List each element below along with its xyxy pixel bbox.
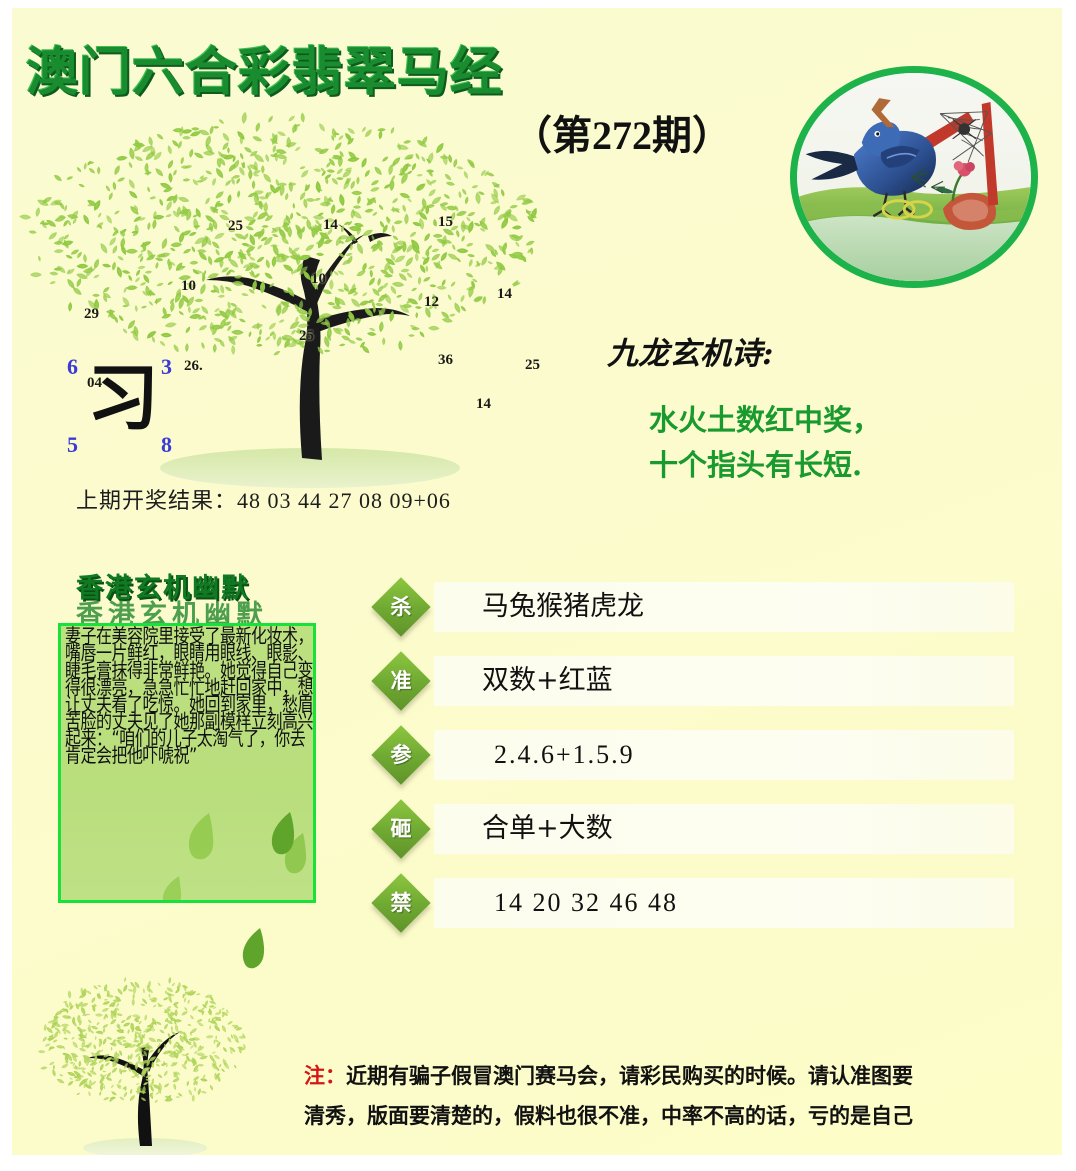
note-line-1-text: 近期有骗子假冒澳门赛马会，请彩民购买的时候。请认准图要 <box>346 1064 913 1088</box>
note-line-1: 注：近期有骗子假冒澳门赛马会，请彩民购买的时候。请认准图要 <box>304 1056 1034 1096</box>
badge-jin[interactable]: 禁 <box>371 873 430 932</box>
leaf-icon <box>157 874 187 903</box>
char-corner-top-left: 6 <box>67 354 78 380</box>
note-line-2: 清秀，版面要清楚的，假料也很不准，中率不高的话，亏的是自己 <box>304 1096 1034 1136</box>
mystery-character-glyph: 习 <box>87 362 159 434</box>
char-corner-top-right: 3 <box>161 354 172 380</box>
joke-body-text: 妻子在美容院里接受了最新化妆术，嘴唇一片鲜红，眼睛用眼线、眼影、睫毛膏抹得非常鲜… <box>65 628 316 765</box>
badge-label: 准 <box>380 660 422 702</box>
leaf-icon <box>264 810 298 858</box>
tree-number: 10 <box>181 278 196 295</box>
badge-za[interactable]: 砸 <box>371 799 430 858</box>
leaf-icon <box>236 926 268 972</box>
prediction-row: 禁 14 20 32 46 48 <box>372 872 1032 946</box>
tree-number: 14 <box>476 396 491 413</box>
poem-title: 九龙玄机诗: <box>607 328 773 373</box>
note-label: 注： <box>304 1064 346 1088</box>
prediction-row: 准 双数+红蓝 <box>372 650 1032 724</box>
badge-can[interactable]: 参 <box>371 725 430 784</box>
tree-number: 10 <box>311 271 326 288</box>
badge-sha[interactable]: 杀 <box>371 577 430 636</box>
last-draw-result: 上期开奖结果：48 03 44 27 08 09+06 <box>76 483 451 515</box>
tree-number: 25 <box>228 218 243 235</box>
poster-page: 澳门六合彩翡翠马经 （第272期） <box>12 8 1062 1155</box>
row-value-zhun: 双数+红蓝 <box>482 656 613 706</box>
decorative-tree-small <box>30 948 330 1155</box>
tree-number: 29 <box>84 306 99 323</box>
tree-number: 36 <box>438 352 453 369</box>
leaf-icon <box>179 811 219 861</box>
row-value-jin: 14 20 32 46 48 <box>494 878 678 928</box>
row-value-can: 2.4.6+1.5.9 <box>494 730 635 780</box>
tree-number: 25 <box>525 357 540 374</box>
tree-number: 14 <box>323 217 338 234</box>
mystery-character-block: 习 6 3 5 8 <box>57 346 197 471</box>
bottom-note: 注：近期有骗子假冒澳门赛马会，请彩民购买的时候。请认准图要 清秀，版面要清楚的，… <box>304 1056 1034 1136</box>
poem-line-2: 十个指头有长短. <box>649 442 862 484</box>
char-corner-bottom-left: 5 <box>67 432 78 458</box>
badge-label: 砸 <box>380 808 422 850</box>
row-value-sha: 马兔猴猪虎龙 <box>482 582 644 632</box>
row-value-za: 合单+大数 <box>482 804 613 854</box>
tree-number: 14 <box>497 286 512 303</box>
joke-box: 妻子在美容院里接受了最新化妆术，嘴唇一片鲜红，眼睛用眼线、眼影、睫毛膏抹得非常鲜… <box>58 623 316 903</box>
badge-zhun[interactable]: 准 <box>371 651 430 710</box>
char-corner-bottom-right: 8 <box>161 432 172 458</box>
illustration-circle <box>790 66 1038 288</box>
tree-number: 15 <box>438 214 453 231</box>
badge-label: 杀 <box>380 586 422 628</box>
poem-line-1: 水火土数红中奖， <box>649 397 881 439</box>
prediction-rows: 杀 马兔猴猪虎龙 准 双数+红蓝 参 2.4.6+1.5.9 砸 合单+大数 禁… <box>372 576 1032 946</box>
prediction-row: 参 2.4.6+1.5.9 <box>372 724 1032 798</box>
badge-label: 禁 <box>380 882 422 924</box>
badge-label: 参 <box>380 734 422 776</box>
prediction-row: 杀 马兔猴猪虎龙 <box>372 576 1032 650</box>
tree-number: 12 <box>424 294 439 311</box>
prediction-row: 砸 合单+大数 <box>372 798 1032 872</box>
tree-number: 25 <box>299 328 314 345</box>
